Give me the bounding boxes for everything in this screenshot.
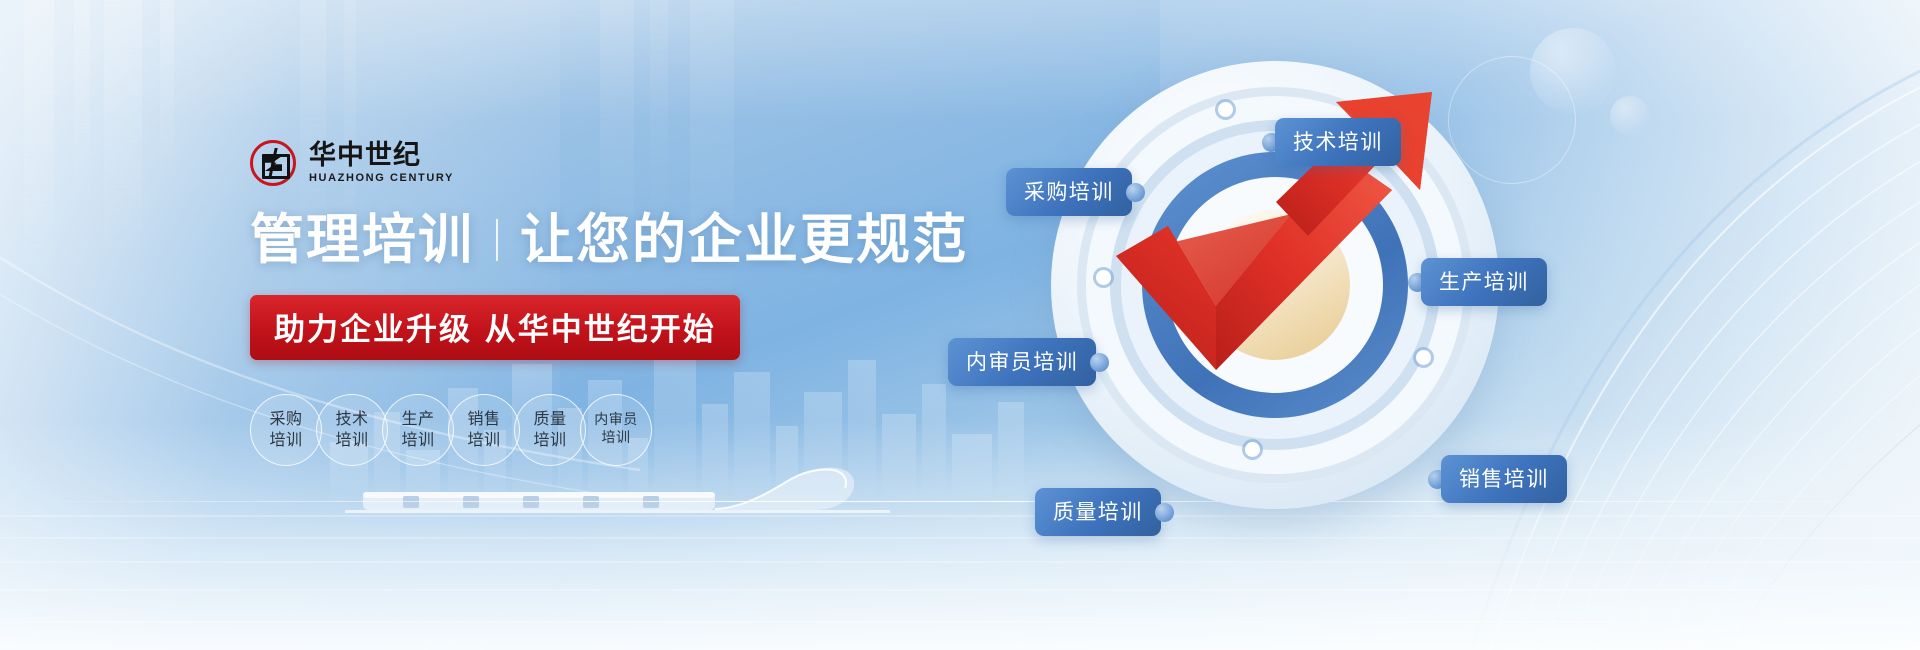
brand-name-en: HUAZHONG CENTURY	[309, 173, 454, 184]
top-light-wash	[0, 0, 1920, 120]
chip-production[interactable]: 生产 培训	[382, 394, 454, 466]
chip-line1: 技术	[335, 409, 368, 429]
tag-label: 技术培训	[1275, 118, 1401, 166]
chip-line2: 培训	[401, 430, 434, 450]
tag-production-training[interactable]: 生产培训	[1408, 258, 1547, 306]
glow-bubble-small	[1610, 96, 1650, 136]
brand-logo: 华中世纪 HUAZHONG CENTURY	[250, 140, 890, 186]
tag-procurement-training[interactable]: 采购培训	[1006, 168, 1145, 216]
chip-line2: 培训	[602, 430, 631, 448]
tag-label: 内审员培训	[948, 338, 1096, 386]
headline-divider	[496, 219, 498, 261]
tag-label: 采购培训	[1006, 168, 1132, 216]
tag-label: 质量培训	[1035, 488, 1161, 536]
chip-line1: 生产	[401, 409, 434, 429]
chip-line1: 内审员	[594, 412, 638, 430]
tag-technical-training[interactable]: 技术培训	[1262, 118, 1401, 166]
chip-sales[interactable]: 销售 培训	[448, 394, 520, 466]
headline: 管理培训 让您的企业更规范	[250, 212, 890, 269]
chip-line2: 培训	[335, 430, 368, 450]
hero-content: 华中世纪 HUAZHONG CENTURY 管理培训 让您的企业更规范 助力企业…	[250, 140, 890, 466]
tag-label: 销售培训	[1441, 455, 1567, 503]
chip-line2: 培训	[467, 430, 500, 450]
chip-line1: 采购	[269, 409, 302, 429]
tag-connector-dot	[1126, 183, 1145, 202]
tag-quality-training[interactable]: 质量培训	[1035, 488, 1174, 536]
banner-root: 华中世纪 HUAZHONG CENTURY 管理培训 让您的企业更规范 助力企业…	[0, 0, 1920, 650]
headline-right: 让您的企业更规范	[520, 212, 968, 269]
tag-label: 生产培训	[1421, 258, 1547, 306]
tag-connector-dot	[1155, 503, 1174, 522]
tag-connector-dot	[1090, 353, 1109, 372]
chip-line1: 质量	[533, 409, 566, 429]
chip-line2: 培训	[269, 430, 302, 450]
brand-name-block: 华中世纪 HUAZHONG CENTURY	[309, 142, 454, 184]
horizon-line	[0, 501, 1920, 502]
huazhong-circle-logo-icon	[250, 140, 296, 186]
chip-procurement[interactable]: 采购 培训	[250, 394, 322, 466]
chip-quality[interactable]: 质量 培训	[514, 394, 586, 466]
headline-left: 管理培训	[250, 212, 474, 269]
chip-internal-auditor[interactable]: 内审员 培训	[580, 394, 652, 466]
glow-bubble-large	[1530, 28, 1616, 114]
training-chip-list: 采购 培训 技术 培训 生产 培训 销售 培训 质量 培训 内审员 培训	[250, 394, 890, 466]
brand-name-cn: 华中世纪	[309, 142, 454, 169]
floor-reflection-lines	[0, 490, 1920, 650]
chip-line1: 销售	[467, 409, 500, 429]
chip-technical[interactable]: 技术 培训	[316, 394, 388, 466]
chip-line2: 培训	[533, 430, 566, 450]
tag-internal-auditor-training[interactable]: 内审员培训	[948, 338, 1109, 386]
tag-sales-training[interactable]: 销售培训	[1428, 455, 1567, 503]
slogan-ribbon: 助力企业升级 从华中世纪开始	[250, 295, 740, 360]
